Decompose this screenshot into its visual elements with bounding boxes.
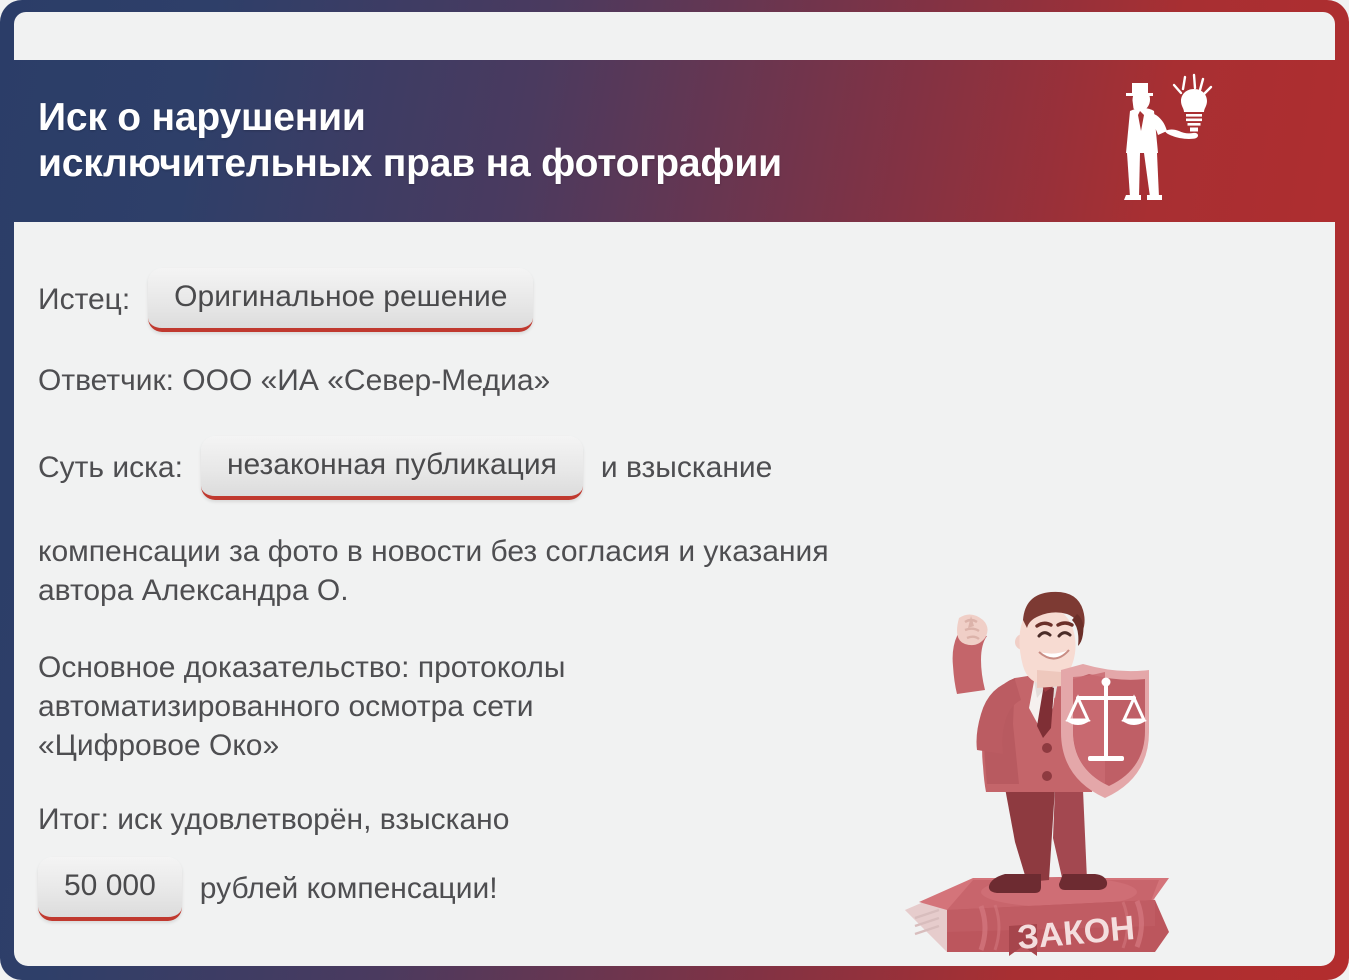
plaintiff-badge[interactable]: Оригинальное решение bbox=[148, 268, 533, 332]
claim-tail-text: и взыскание bbox=[601, 453, 773, 483]
claim-row: Суть иска: незаконная публикация и взыск… bbox=[38, 436, 1078, 500]
lawyer-with-shield-illustration: ЗАКОН bbox=[887, 580, 1187, 966]
claim-label: Суть иска: bbox=[38, 453, 183, 483]
result-label: Итог: иск удовлетворён, взыскано bbox=[38, 805, 509, 835]
header-band: Иск о нарушении исключительных прав на ф… bbox=[0, 60, 1349, 222]
amount-badge[interactable]: 50 000 bbox=[38, 857, 182, 921]
defendant-row: Ответчик: ООО «ИА «Север-Медиа» bbox=[38, 366, 1078, 396]
card-top-strip bbox=[14, 12, 1335, 60]
plaintiff-row: Истец: Оригинальное решение bbox=[38, 268, 1078, 332]
amount-tail-text: рублей компенсации! bbox=[200, 874, 498, 904]
page-title: Иск о нарушении исключительных прав на ф… bbox=[38, 95, 782, 187]
claim-badge[interactable]: незаконная публикация bbox=[201, 436, 583, 500]
man-with-lightbulb-icon bbox=[1099, 71, 1219, 211]
card-frame: Иск о нарушении исключительных прав на ф… bbox=[0, 0, 1349, 980]
content-card: Истец: Оригинальное решение Ответчик: ОО… bbox=[14, 222, 1335, 966]
defendant-text: Ответчик: ООО «ИА «Север-Медиа» bbox=[38, 366, 550, 396]
plaintiff-label: Истец: bbox=[38, 285, 130, 315]
